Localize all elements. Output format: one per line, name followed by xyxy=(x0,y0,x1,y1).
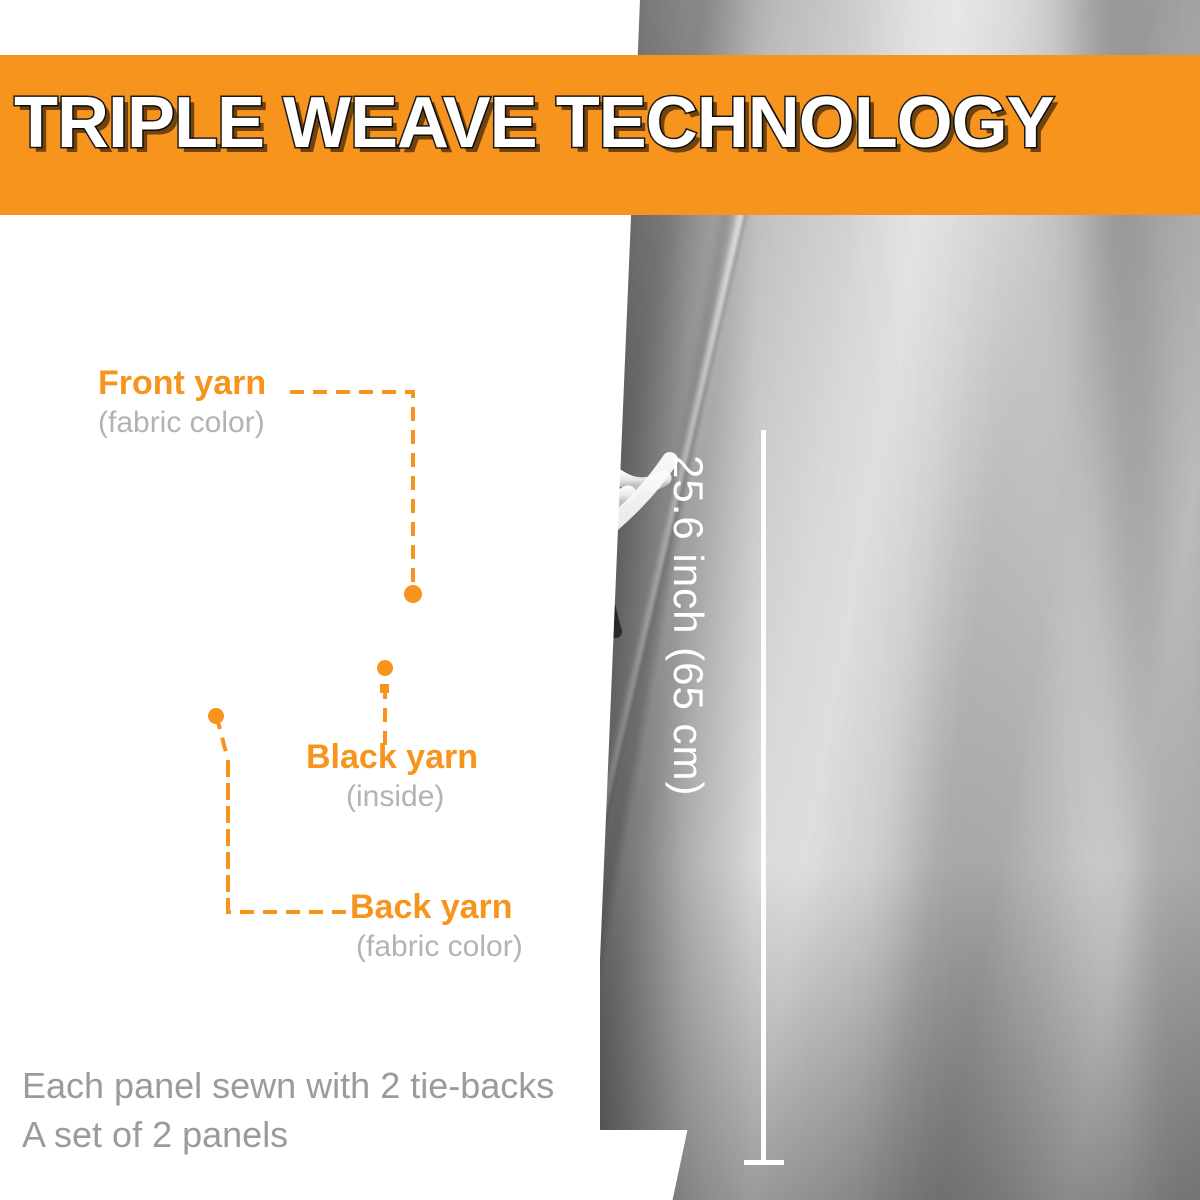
footer-text: Each panel sewn with 2 tie-backs A set o… xyxy=(22,1062,554,1159)
callout-back-yarn: Back yarn (fabric color) xyxy=(350,890,523,963)
callout-back-yarn-subtitle: (fabric color) xyxy=(356,930,523,963)
callout-black-yarn: Black yarn (inside) xyxy=(306,740,478,813)
dimension-line xyxy=(761,430,766,1165)
footer-line-1: Each panel sewn with 2 tie-backs xyxy=(22,1062,554,1111)
callout-front-yarn: Front yarn (fabric color) xyxy=(98,366,266,439)
callout-black-yarn-title: Black yarn xyxy=(306,740,478,776)
callout-front-yarn-title: Front yarn xyxy=(98,366,266,402)
black-yarn-marker xyxy=(377,660,393,676)
callout-front-yarn-subtitle: (fabric color) xyxy=(98,406,266,439)
back-yarn-marker xyxy=(208,708,224,724)
callout-black-yarn-subtitle: (inside) xyxy=(346,780,478,813)
dimension-end-cap xyxy=(744,1160,784,1165)
callout-leader-lines xyxy=(0,0,1200,1200)
black-yarn-marker-dot xyxy=(380,684,389,693)
front-yarn-marker xyxy=(404,585,422,603)
callout-back-yarn-title: Back yarn xyxy=(350,890,523,926)
dimension-label: 25.6 inch (65 cm) xyxy=(664,455,712,796)
product-infographic: TRIPLE WEAVE TECHNOLOGY Front yarn (fabr… xyxy=(0,0,1200,1200)
footer-line-2: A set of 2 panels xyxy=(22,1111,554,1160)
